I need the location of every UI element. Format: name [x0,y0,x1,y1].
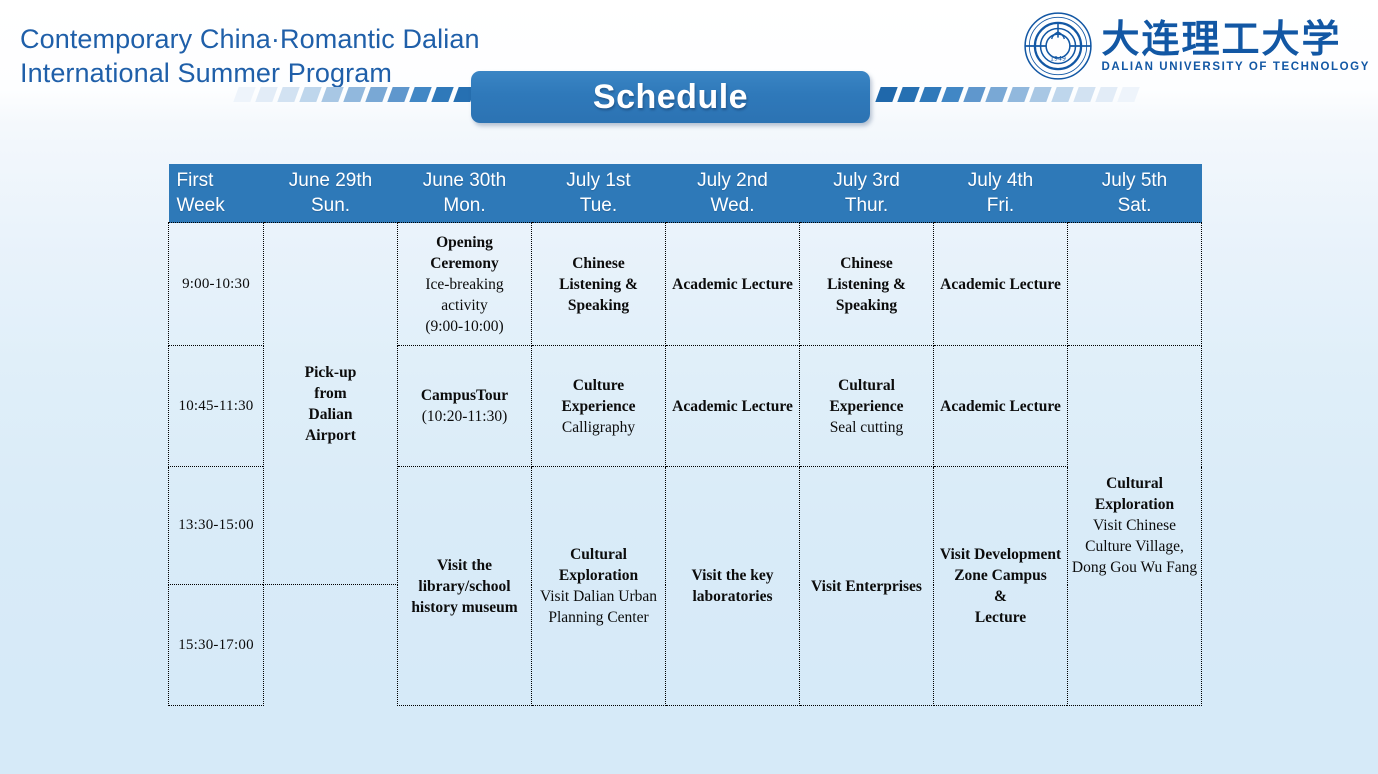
cell-tue-culture-experience: CultureExperienceCalligraphy [532,346,666,467]
cell-text-strong: Listening & [535,274,662,295]
column-header-line1: July 1st [566,170,630,191]
table-header-row: First Week June 29th Sun. June 30th Mon.… [169,164,1202,223]
cell-text-strong: Visit Development [937,544,1064,565]
schedule-table: First Week June 29th Sun. June 30th Mon.… [168,164,1202,706]
university-emblem-icon: 1949 [1023,11,1093,81]
column-header-june-29: June 29th Sun. [264,164,398,223]
cell-wed-academic-lecture: Academic Lecture [666,223,800,346]
cell-text-strong: Zone Campus [937,565,1064,586]
cell-text-plain: (10:20-11:30) [401,406,528,427]
column-header-july-1: July 1st Tue. [532,164,666,223]
cell-thur-visit-enterprises: Visit Enterprises [800,467,934,706]
column-header-line2: Sat. [1118,195,1152,216]
cell-text-strong: Chinese [803,253,930,274]
cell-text-strong: Speaking [803,295,930,316]
cell-text-plain: Ice-breaking [401,274,528,295]
cell-text-plain: Culture Village, [1071,536,1198,557]
cell-text-strong: Ceremony [401,253,528,274]
cell-text-strong: Cultural [803,375,930,396]
cell-text-strong: Pick-up [267,362,394,383]
cell-text-plain: Dong Gou Wu Fang [1071,557,1198,578]
cell-sat-empty [1068,223,1202,346]
cell-text-strong: CampusTour [401,385,528,406]
column-header-line1: July 2nd [697,170,768,191]
column-header-july-3: July 3rd Thur. [800,164,934,223]
cell-text-strong: Cultural [535,544,662,565]
schedule-banner-label: Schedule [593,78,748,117]
cell-text-strong: Visit the key [669,565,796,586]
cell-mon-campus-tour: CampusTour(10:20-11:30) [398,346,532,467]
cell-text-plain: Planning Center [535,607,662,628]
cell-text-strong: Airport [267,425,394,446]
cell-text-plain: Visit Chinese [1071,515,1198,536]
column-header-line1: June 29th [289,170,372,191]
column-header-june-30: June 30th Mon. [398,164,532,223]
column-header-line2: Fri. [987,195,1014,216]
cell-text-strong: from [267,383,394,404]
cell-text-strong: & [937,586,1064,607]
column-header-july-5: July 5th Sat. [1068,164,1202,223]
column-header-line1: First Week [177,170,225,216]
page-title-line1: Contemporary China·Romantic Dalian [20,22,620,56]
cell-fri-academic-lecture: Academic Lecture [934,223,1068,346]
column-header-line1: July 5th [1102,170,1167,191]
column-header-line2: Thur. [845,195,888,216]
cell-text-strong: Academic Lecture [937,396,1064,417]
cell-text-strong: Listening & [803,274,930,295]
cell-tue-chinese-listening: ChineseListening &Speaking [532,223,666,346]
cell-text-strong: Cultural [1071,473,1198,494]
column-header-first-week: First Week [169,164,264,223]
column-header-line1: July 4th [968,170,1033,191]
cell-text-strong: Culture [535,375,662,396]
time-slot-4: 15:30-17:00 [169,585,264,706]
cell-mon-opening-ceremony: OpeningCeremonyIce-breakingactivity(9:00… [398,223,532,346]
schedule-banner: Schedule [471,71,870,123]
cell-text-strong: Opening [401,232,528,253]
svg-text:1949: 1949 [1050,56,1066,63]
column-header-line1: July 3rd [833,170,900,191]
cell-sat-cultural-exploration: CulturalExplorationVisit ChineseCulture … [1068,346,1202,706]
cell-text-strong: Academic Lecture [937,274,1064,295]
university-wordmark: 大连理工大学 DALIAN UNIVERSITY OF TECHNOLOGY [1101,18,1370,74]
cell-text-strong: Experience [803,396,930,417]
cell-text-strong: library/school [401,576,528,597]
cell-text-strong: laboratories [669,586,796,607]
cell-text-strong: Visit the [401,555,528,576]
dash-decoration-left [236,86,495,103]
cell-text-strong: Academic Lecture [669,396,796,417]
cell-tue-cultural-exploration: CulturalExplorationVisit Dalian UrbanPla… [532,467,666,706]
cell-text-strong: Exploration [535,565,662,586]
column-header-line1: June 30th [423,170,506,191]
university-name-cn: 大连理工大学 [1101,18,1341,60]
cell-mon-visit-library: Visit thelibrary/schoolhistory museum [398,467,532,706]
slide-canvas: Contemporary China·Romantic Dalian Inter… [0,0,1378,774]
cell-sun-pickup: Pick-upfromDalianAirport [264,223,398,585]
cell-thur-cultural-experience: CulturalExperienceSeal cutting [800,346,934,467]
cell-text-strong: Academic Lecture [669,274,796,295]
cell-wed-academic-lecture: Academic Lecture [666,346,800,467]
column-header-july-4: July 4th Fri. [934,164,1068,223]
cell-fri-visit-development-zone: Visit DevelopmentZone Campus&Lecture [934,467,1068,706]
cell-text-strong: Speaking [535,295,662,316]
university-name-en: DALIAN UNIVERSITY OF TECHNOLOGY [1101,60,1370,74]
column-header-line2: Wed. [710,195,754,216]
table-row: 9:00-10:30 Pick-upfromDalianAirport Open… [169,223,1202,346]
cell-wed-visit-laboratories: Visit the keylaboratories [666,467,800,706]
time-slot-2: 10:45-11:30 [169,346,264,467]
cell-text-strong: Lecture [937,607,1064,628]
cell-text-strong: Visit Enterprises [803,576,930,597]
cell-text-strong: Exploration [1071,494,1198,515]
cell-text-strong: Experience [535,396,662,417]
cell-text-plain: Calligraphy [535,417,662,438]
university-logo: 1949 大连理工大学 DALIAN UNIVERSITY OF TECHNOL… [1023,10,1370,82]
column-header-line2: Tue. [580,195,617,216]
cell-text-plain: activity [401,295,528,316]
cell-text-plain: Visit Dalian Urban [535,586,662,607]
column-header-july-2: July 2nd Wed. [666,164,800,223]
column-header-line2: Mon. [443,195,485,216]
column-header-line2: Sun. [311,195,350,216]
time-slot-1: 9:00-10:30 [169,223,264,346]
cell-fri-academic-lecture: Academic Lecture [934,346,1068,467]
cell-text-plain: (9:00-10:00) [401,316,528,337]
dash-decoration-right [878,86,1137,103]
cell-text-strong: history museum [401,597,528,618]
cell-text-plain: Seal cutting [803,417,930,438]
time-slot-3: 13:30-15:00 [169,467,264,585]
cell-text-strong: Chinese [535,253,662,274]
cell-text-strong: Dalian [267,404,394,425]
cell-thur-chinese-listening: ChineseListening &Speaking [800,223,934,346]
